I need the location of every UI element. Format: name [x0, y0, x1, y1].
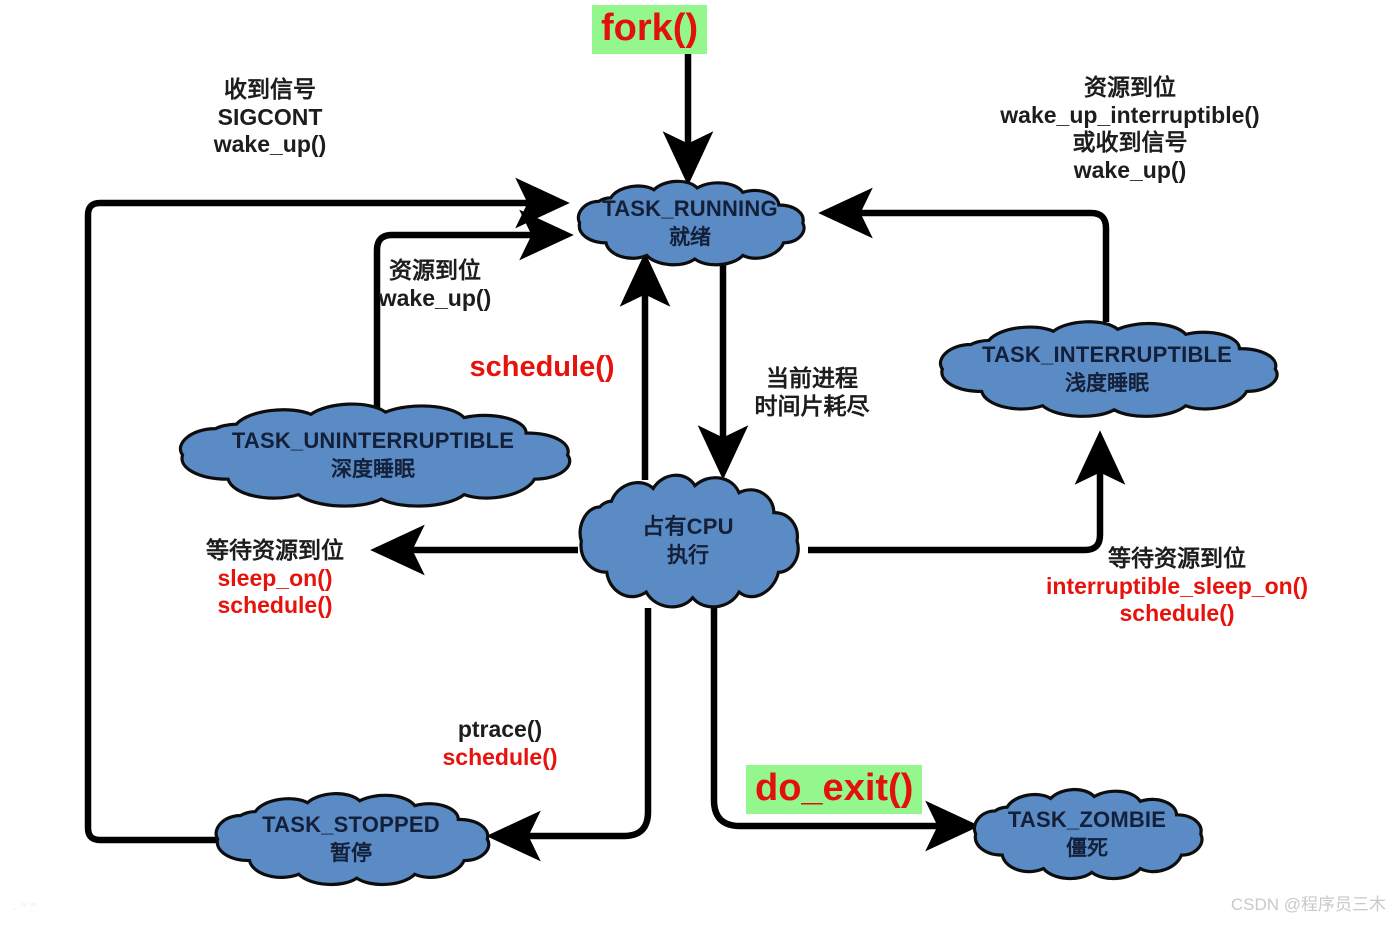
do-exit-label[interactable]: do_exit() — [746, 765, 922, 814]
node-running[interactable]: TASK_RUNNING 就绪 — [570, 178, 810, 268]
node-running-subtitle: 就绪 — [669, 226, 711, 250]
node-interruptible-title: TASK_INTERRUPTIBLE — [982, 343, 1232, 368]
fork-entry-label[interactable]: fork() — [592, 5, 707, 54]
node-uninterruptible-title: TASK_UNINTERRUPTIBLE — [232, 429, 514, 454]
label-interruptible-to-running: 资源到位 wake_up_interruptible() 或收到信号 wake_… — [950, 74, 1310, 184]
node-stopped-title: TASK_STOPPED — [262, 813, 440, 838]
node-running-title: TASK_RUNNING — [602, 197, 778, 222]
node-uninterruptible[interactable]: TASK_UNINTERRUPTIBLE 深度睡眠 — [166, 400, 580, 510]
node-stopped[interactable]: TASK_STOPPED 暂停 — [206, 790, 496, 888]
label-stopped-to-running: 收到信号 SIGCONT wake_up() — [148, 76, 392, 159]
node-interruptible[interactable]: TASK_INTERRUPTIBLE 浅度睡眠 — [928, 318, 1286, 420]
node-cpu-subtitle: 执行 — [667, 544, 709, 568]
label-uninterruptible-to-running: 资源到位 wake_up() — [340, 257, 530, 312]
label-cpu-to-running: 当前进程 时间片耗尽 — [737, 365, 887, 420]
label-cpu-to-interruptible: 等待资源到位 interruptible_sleep_on() schedule… — [1012, 545, 1342, 628]
label-running-to-cpu: schedule() — [452, 350, 632, 385]
node-uninterruptible-subtitle: 深度睡眠 — [331, 458, 415, 482]
label-cpu-to-stopped: ptrace() schedule() — [400, 716, 600, 771]
node-cpu[interactable]: 占有CPU 执行 — [572, 470, 804, 612]
csdn-watermark: CSDN @程序员三木 — [1231, 890, 1386, 915]
corner-artifact: · ″ ″ — [12, 900, 36, 917]
node-zombie[interactable]: TASK_ZOMBIE 僵死 — [966, 786, 1208, 882]
node-interruptible-subtitle: 浅度睡眠 — [1065, 372, 1149, 396]
node-cpu-title: 占有CPU — [642, 515, 733, 540]
node-zombie-subtitle: 僵死 — [1066, 837, 1108, 861]
node-zombie-title: TASK_ZOMBIE — [1008, 808, 1166, 833]
label-cpu-to-uninterruptible: 等待资源到位 sleep_on() schedule() — [180, 537, 370, 620]
edge-interruptible-to-running — [826, 213, 1106, 322]
node-stopped-subtitle: 暂停 — [330, 842, 372, 866]
process-state-diagram: TASK_RUNNING 就绪 占有CPU 执行 TASK_UNINTERRUP… — [0, 0, 1400, 927]
edge-cpu-to-interruptible — [808, 438, 1100, 550]
